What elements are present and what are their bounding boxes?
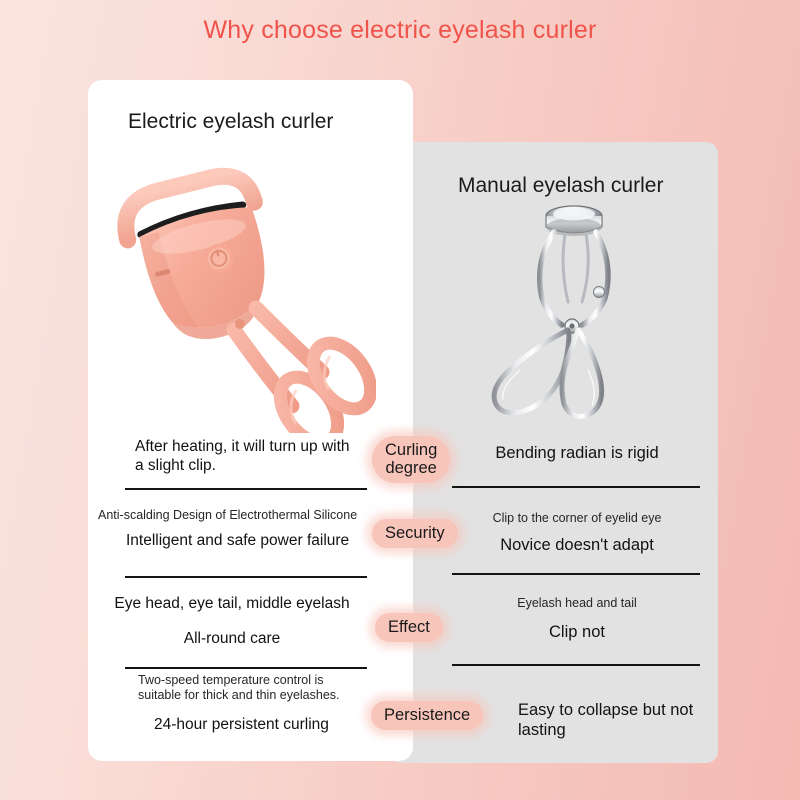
row-1-divider-left [125,488,367,490]
row-4-manual-cell: Easy to collapse but not lasting [450,700,698,740]
row-3-manual-lead: Eyelash head and tail [452,596,702,611]
row-3-divider-left [125,667,367,669]
badge-persistence-line-1: Persistence [384,706,470,725]
badge-security-line-1: Security [385,524,445,543]
badge-curling-degree[interactable]: Curling degree [372,436,450,483]
row-3-manual-cell: Eyelash head and tail Clip not [452,596,702,642]
row-3-electric-cell: Eye head, eye tail, middle eyelash All-r… [98,594,366,649]
row-4-manual-main: Easy to collapse but not lasting [450,700,698,740]
badge-security[interactable]: Security [372,519,458,548]
row-3-electric-main: All-round care [98,629,366,648]
row-2-electric-main: Intelligent and safe power failure [98,531,360,550]
row-3-manual-main: Clip not [452,622,702,642]
row-3-divider-right [452,664,700,666]
row-1-divider-right [452,486,700,488]
badge-effect[interactable]: Effect [375,613,443,642]
row-4-electric-lead: Two-speed temperature control is suitabl… [138,673,368,704]
badge-persistence[interactable]: Persistence [371,701,483,730]
row-2-manual-lead: Clip to the corner of eyelid eye [452,511,702,526]
electric-eyelash-curler-image [106,158,376,433]
row-1-electric-cell: After heating, it will turn up with a sl… [105,437,355,476]
panel-electric-title: Electric eyelash curler [128,110,333,134]
row-1-electric-main: After heating, it will turn up with a sl… [105,437,355,476]
row-2-manual-main: Novice doesn't adapt [452,535,702,555]
page-title: Why choose electric eyelash curler [0,16,800,45]
row-4-electric-cell: Two-speed temperature control is suitabl… [138,673,368,734]
badge-curling-degree-line-2: degree [385,459,437,477]
row-3-electric-lead: Eye head, eye tail, middle eyelash [98,594,366,613]
row-2-electric-cell: Anti-scalding Design of Electrothermal S… [98,508,360,551]
row-2-manual-cell: Clip to the corner of eyelid eye Novice … [452,511,702,555]
manual-eyelash-curler-image [462,194,642,424]
row-1-manual-cell: Bending radian is rigid [452,443,702,463]
row-4-electric-main: 24-hour persistent curling [138,715,368,734]
panel-electric-curler: Electric eyelash curler [88,80,413,761]
row-2-divider-right [452,573,700,575]
row-2-divider-left [125,576,367,578]
row-2-electric-lead: Anti-scalding Design of Electrothermal S… [98,508,360,523]
badge-curling-degree-line-1: Curling [385,441,437,459]
row-1-manual-main: Bending radian is rigid [452,443,702,463]
badge-effect-line-1: Effect [388,618,430,637]
